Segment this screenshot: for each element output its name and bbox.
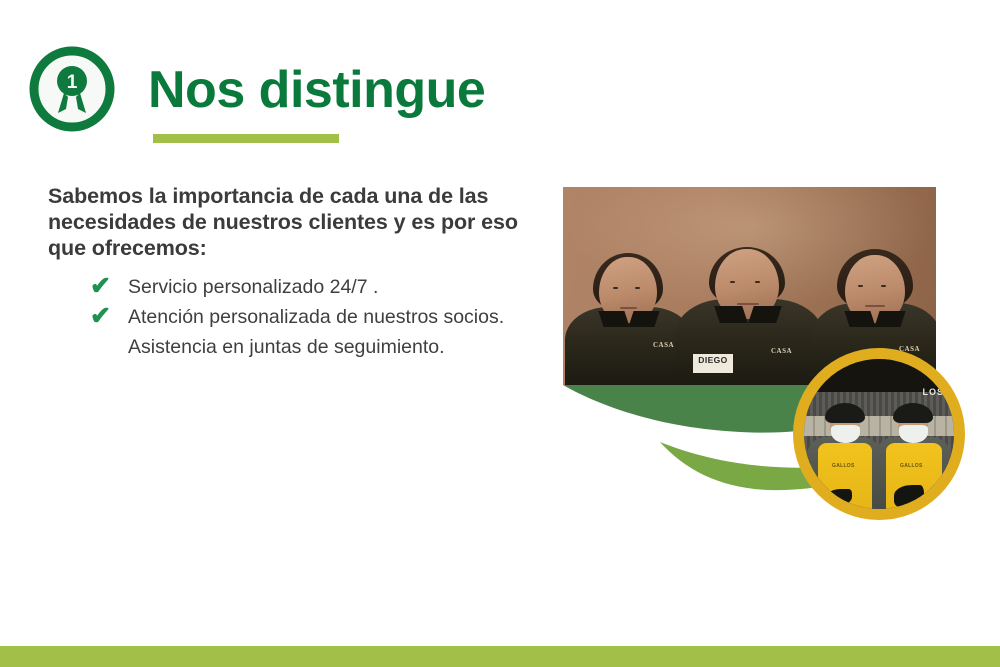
yellow-circle-ring: LOS GALLOS G — [793, 348, 965, 520]
media-group: CASA DIEGO CASA — [540, 170, 1000, 550]
list-item-label: Asistencia en juntas de seguimiento. — [128, 332, 445, 362]
lead-paragraph: Sabemos la importancia de cada una de la… — [48, 183, 528, 261]
shirt-logo: CASA — [771, 347, 792, 355]
apron-logo: GALLOS — [832, 463, 855, 469]
shirt-logo: CASA — [653, 341, 674, 349]
benefits-list: ✔ Servicio personalizado 24/7 . ✔ Atenci… — [88, 272, 548, 362]
wall-sign-text: LOS — [922, 387, 944, 397]
award-ribbon-number: 1 — [67, 72, 78, 93]
list-item: ✔ Atención personalizada de nuestros soc… — [88, 302, 548, 332]
slide-canvas: 1 Nos distingue Sabemos la importancia d… — [0, 0, 1000, 667]
list-item: ✔ Servicio personalizado 24/7 . — [88, 272, 548, 302]
list-item: Asistencia en juntas de seguimiento. — [88, 332, 548, 362]
workers-circle-photo: LOS GALLOS G — [804, 359, 954, 509]
name-tag: DIEGO — [693, 354, 733, 373]
check-icon: ✔ — [88, 302, 128, 331]
person-center: DIEGO CASA — [675, 245, 825, 385]
worker-right: GALLOS — [874, 401, 954, 509]
list-item-label: Atención personalizada de nuestros socio… — [128, 302, 504, 332]
slide-header: 1 Nos distingue — [28, 42, 648, 152]
award-ribbon-icon: 1 — [28, 45, 116, 133]
title-underline — [153, 134, 339, 143]
check-icon: ✔ — [88, 272, 128, 301]
apron-logo: GALLOS — [900, 463, 923, 469]
footer-accent-bar — [0, 646, 1000, 667]
worker-left: GALLOS — [806, 401, 884, 509]
list-item-label: Servicio personalizado 24/7 . — [128, 272, 378, 302]
page-title: Nos distingue — [148, 42, 485, 138]
